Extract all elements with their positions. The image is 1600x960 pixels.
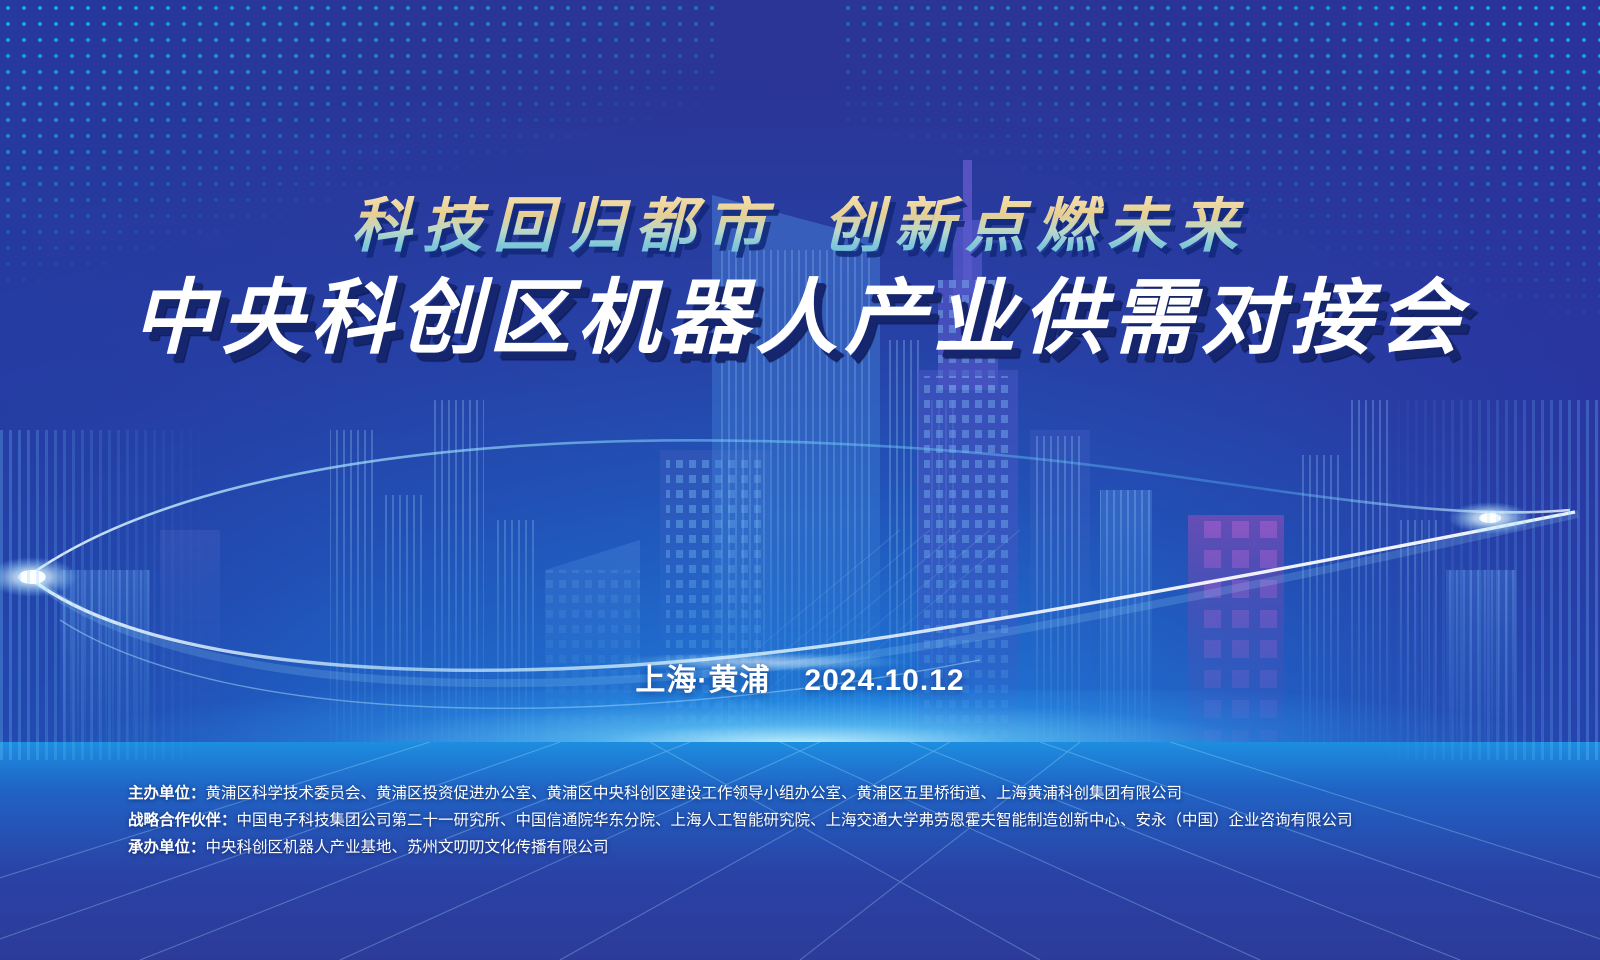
poster-content: 科技回归都市创新点燃未来 中央科创区机器人产业供需对接会 上海·黄浦2024.1… [0, 0, 1600, 960]
credit-value: 中国电子科技集团公司第二十一研究所、中国信通院华东分院、上海人工智能研究院、上海… [237, 812, 1353, 829]
poster-canvas: 科技回归都市创新点燃未来 中央科创区机器人产业供需对接会 上海·黄浦2024.1… [0, 0, 1600, 960]
event-location: 上海·黄浦 [635, 664, 770, 697]
poster-main-title: 中央科创区机器人产业供需对接会 [0, 278, 1600, 360]
credit-row-co-organizer: 承办单位：中央科创区机器人产业基地、苏州文叨叨文化传播有限公司 [128, 834, 1548, 861]
credit-label: 主办单位： [128, 785, 206, 802]
poster-subtitle: 科技回归都市创新点燃未来 [0, 196, 1600, 256]
credits-block: 主办单位：黄浦区科学技术委员会、黄浦区投资促进办公室、黄浦区中央科创区建设工作领… [128, 780, 1548, 861]
poster-meta-line: 上海·黄浦2024.10.12 [0, 655, 1600, 699]
credit-label: 战略合作伙伴： [128, 812, 237, 829]
event-date: 2024.10.12 [804, 664, 964, 697]
credit-row-organizer: 主办单位：黄浦区科学技术委员会、黄浦区投资促进办公室、黄浦区中央科创区建设工作领… [128, 780, 1548, 807]
subtitle-phrase-1: 科技回归都市 [351, 191, 777, 261]
subtitle-phrase-2: 创新点燃未来 [823, 191, 1249, 261]
credit-value: 黄浦区科学技术委员会、黄浦区投资促进办公室、黄浦区中央科创区建设工作领导小组办公… [206, 785, 1183, 802]
credit-row-strategic-partners: 战略合作伙伴：中国电子科技集团公司第二十一研究所、中国信通院华东分院、上海人工智… [128, 807, 1548, 834]
credit-label: 承办单位： [128, 839, 206, 856]
credit-value: 中央科创区机器人产业基地、苏州文叨叨文化传播有限公司 [206, 839, 609, 856]
